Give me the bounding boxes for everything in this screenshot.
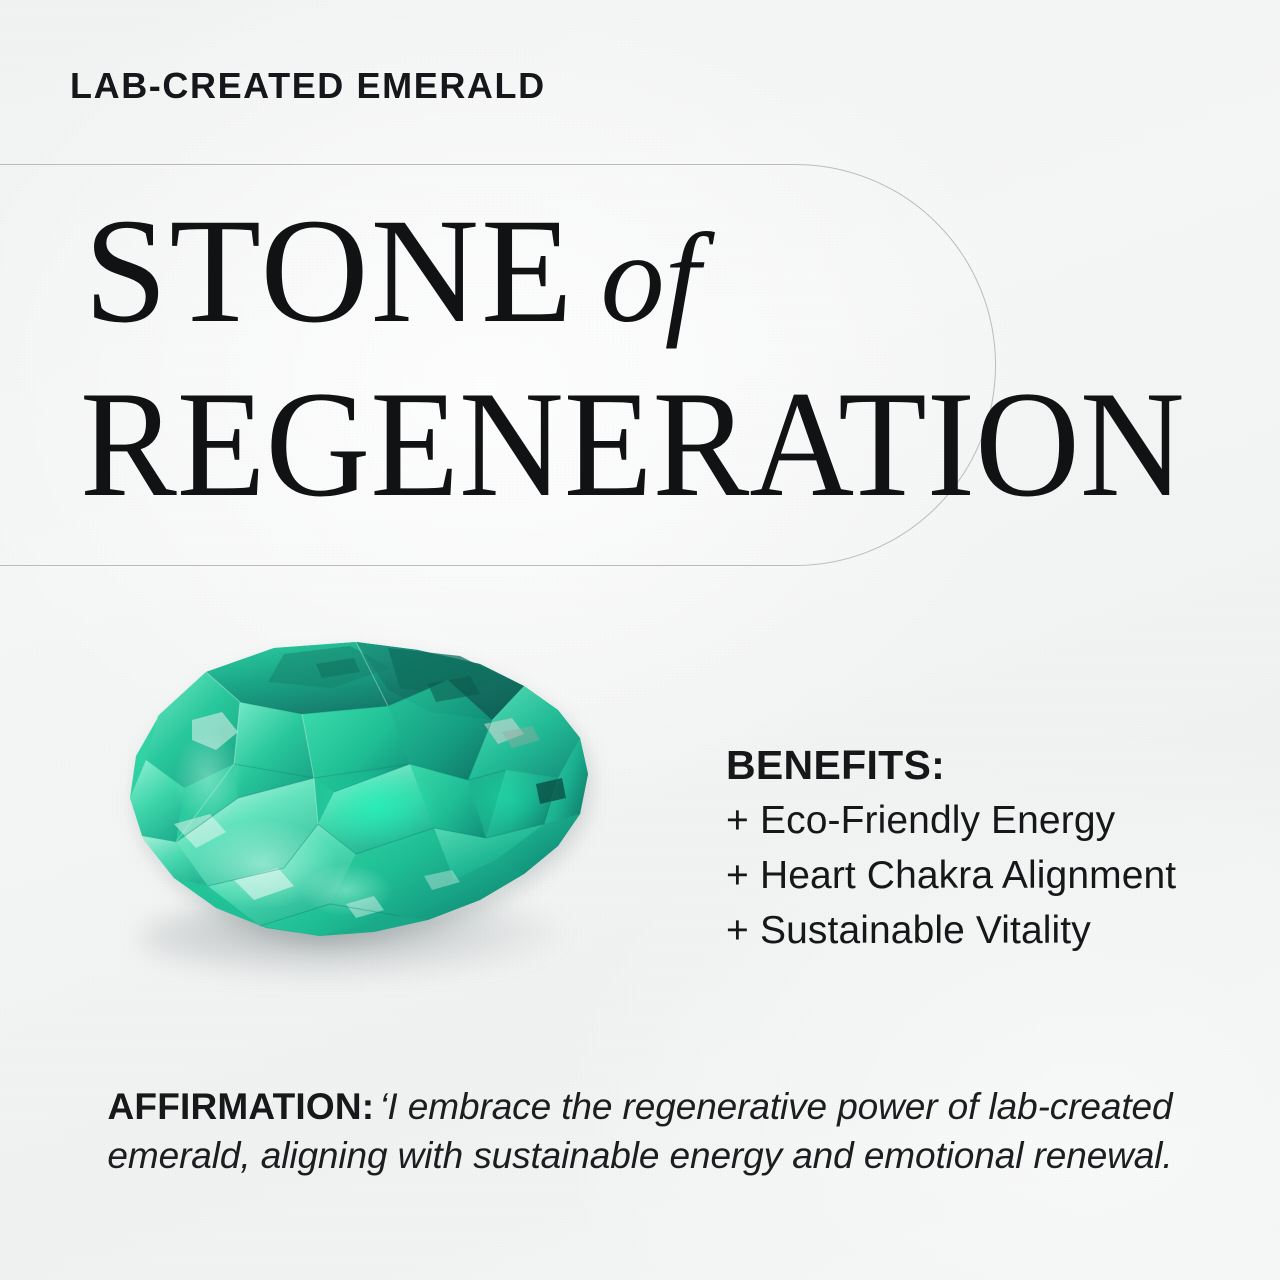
benefit-item-2: + Heart Chakra Alignment <box>726 848 1266 903</box>
affirmation-block: AFFIRMATION:‘I embrace the regenerative … <box>54 1082 1226 1180</box>
benefit-label: Heart Chakra Alignment <box>760 848 1176 903</box>
benefit-label: Eco-Friendly Energy <box>760 793 1115 848</box>
plus-icon: + <box>726 793 760 848</box>
benefit-label: Sustainable Vitality <box>760 903 1091 958</box>
affirmation-label: AFFIRMATION: <box>107 1086 379 1127</box>
emerald-crystal-icon <box>88 628 604 968</box>
benefits-heading: BENEFITS: <box>726 742 1266 789</box>
benefit-item-1: + Eco-Friendly Energy <box>726 793 1266 848</box>
poster-canvas: LAB-CREATED EMERALD STONEof REGENERATION <box>0 0 1280 1280</box>
gemstone-figure <box>88 628 608 1008</box>
eyebrow-label: LAB-CREATED EMERALD <box>70 68 546 104</box>
hero-outline-pill <box>0 164 996 566</box>
benefit-item-3: + Sustainable Vitality <box>726 903 1266 958</box>
plus-icon: + <box>726 903 760 958</box>
plus-icon: + <box>726 848 760 903</box>
benefits-block: BENEFITS: + Eco-Friendly Energy + Heart … <box>726 742 1266 959</box>
